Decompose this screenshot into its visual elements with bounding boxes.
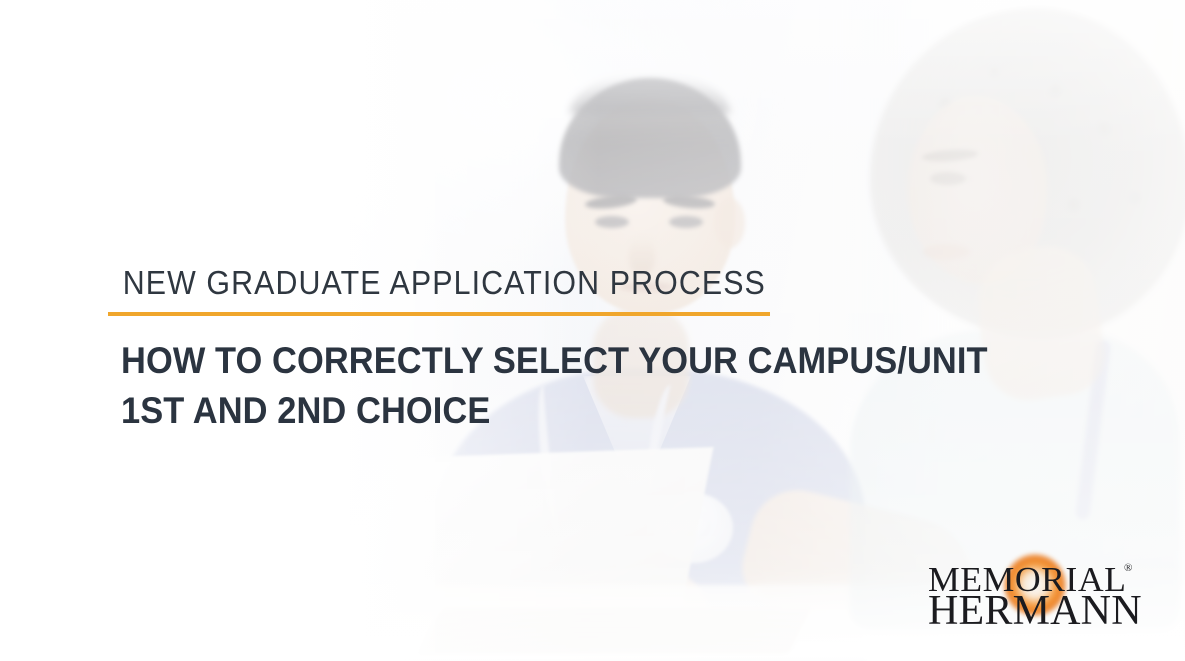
male-nurse-eye-right (669, 216, 703, 228)
male-nurse-hairline (570, 74, 730, 114)
page-title: HOW TO CORRECTLY SELECT YOUR CAMPUS/UNIT… (108, 336, 964, 437)
headline-line-1: HOW TO CORRECTLY SELECT YOUR CAMPUS/UNIT (121, 336, 964, 386)
logo-wordmark-hermann: HERMANN (928, 590, 1142, 632)
title-slide: NEW GRADUATE APPLICATION PROCESS HOW TO … (0, 0, 1185, 661)
male-nurse-ear (715, 198, 745, 248)
accent-divider-rule (108, 312, 770, 316)
title-text-block: NEW GRADUATE APPLICATION PROCESS HOW TO … (108, 266, 1028, 437)
male-nurse-eye-left (595, 216, 629, 228)
eyebrow-text: NEW GRADUATE APPLICATION PROCESS (108, 266, 954, 299)
laptop-keyboard-base (419, 608, 811, 654)
female-nurse-lips (922, 244, 970, 260)
registered-trademark-icon: ® (1124, 562, 1132, 574)
headline-line-2: 1ST AND 2ND CHOICE (121, 386, 964, 436)
female-nurse-eye (930, 172, 966, 185)
memorial-hermann-logo: MEMORIAL ® HERMANN (928, 558, 1134, 638)
